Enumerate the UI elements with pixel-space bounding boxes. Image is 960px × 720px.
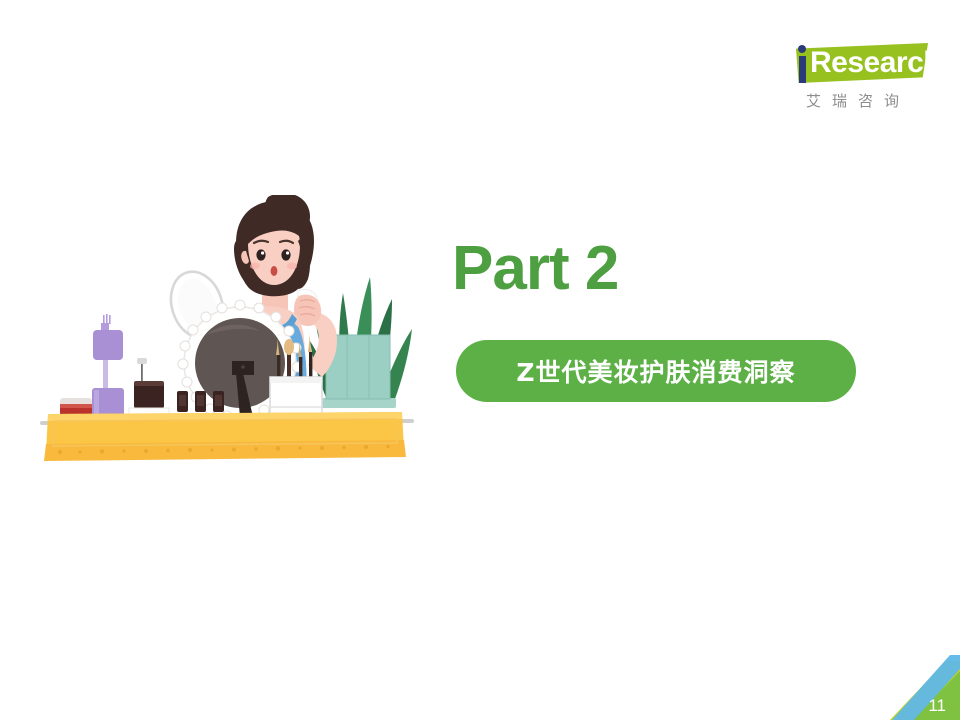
illustration-objects	[40, 195, 414, 461]
shelf-board	[40, 412, 414, 461]
logo-wordmark: Research	[810, 44, 941, 82]
logo-mark: Research	[772, 38, 932, 88]
corner-decoration: 11	[850, 625, 960, 720]
logo-i-stem-icon	[799, 56, 806, 83]
vanity-illustration	[40, 195, 430, 470]
dark-product-box	[129, 358, 169, 418]
section-subtitle-pill: Z世代美妆护肤消费洞察	[456, 340, 856, 402]
section-subtitle-label: Z世代美妆护肤消费洞察	[516, 353, 795, 389]
page-number: 11	[928, 696, 946, 716]
logo-chinese-name: 艾瑞咨询	[806, 90, 910, 111]
purple-dispenser	[92, 314, 124, 426]
small-dark-bottles	[177, 391, 224, 412]
slide-canvas: Research 艾瑞咨询	[0, 0, 960, 720]
logo-i-dot-icon	[798, 45, 806, 53]
page-title: Part 2	[452, 234, 618, 304]
iresearch-logo: Research 艾瑞咨询	[772, 38, 932, 118]
